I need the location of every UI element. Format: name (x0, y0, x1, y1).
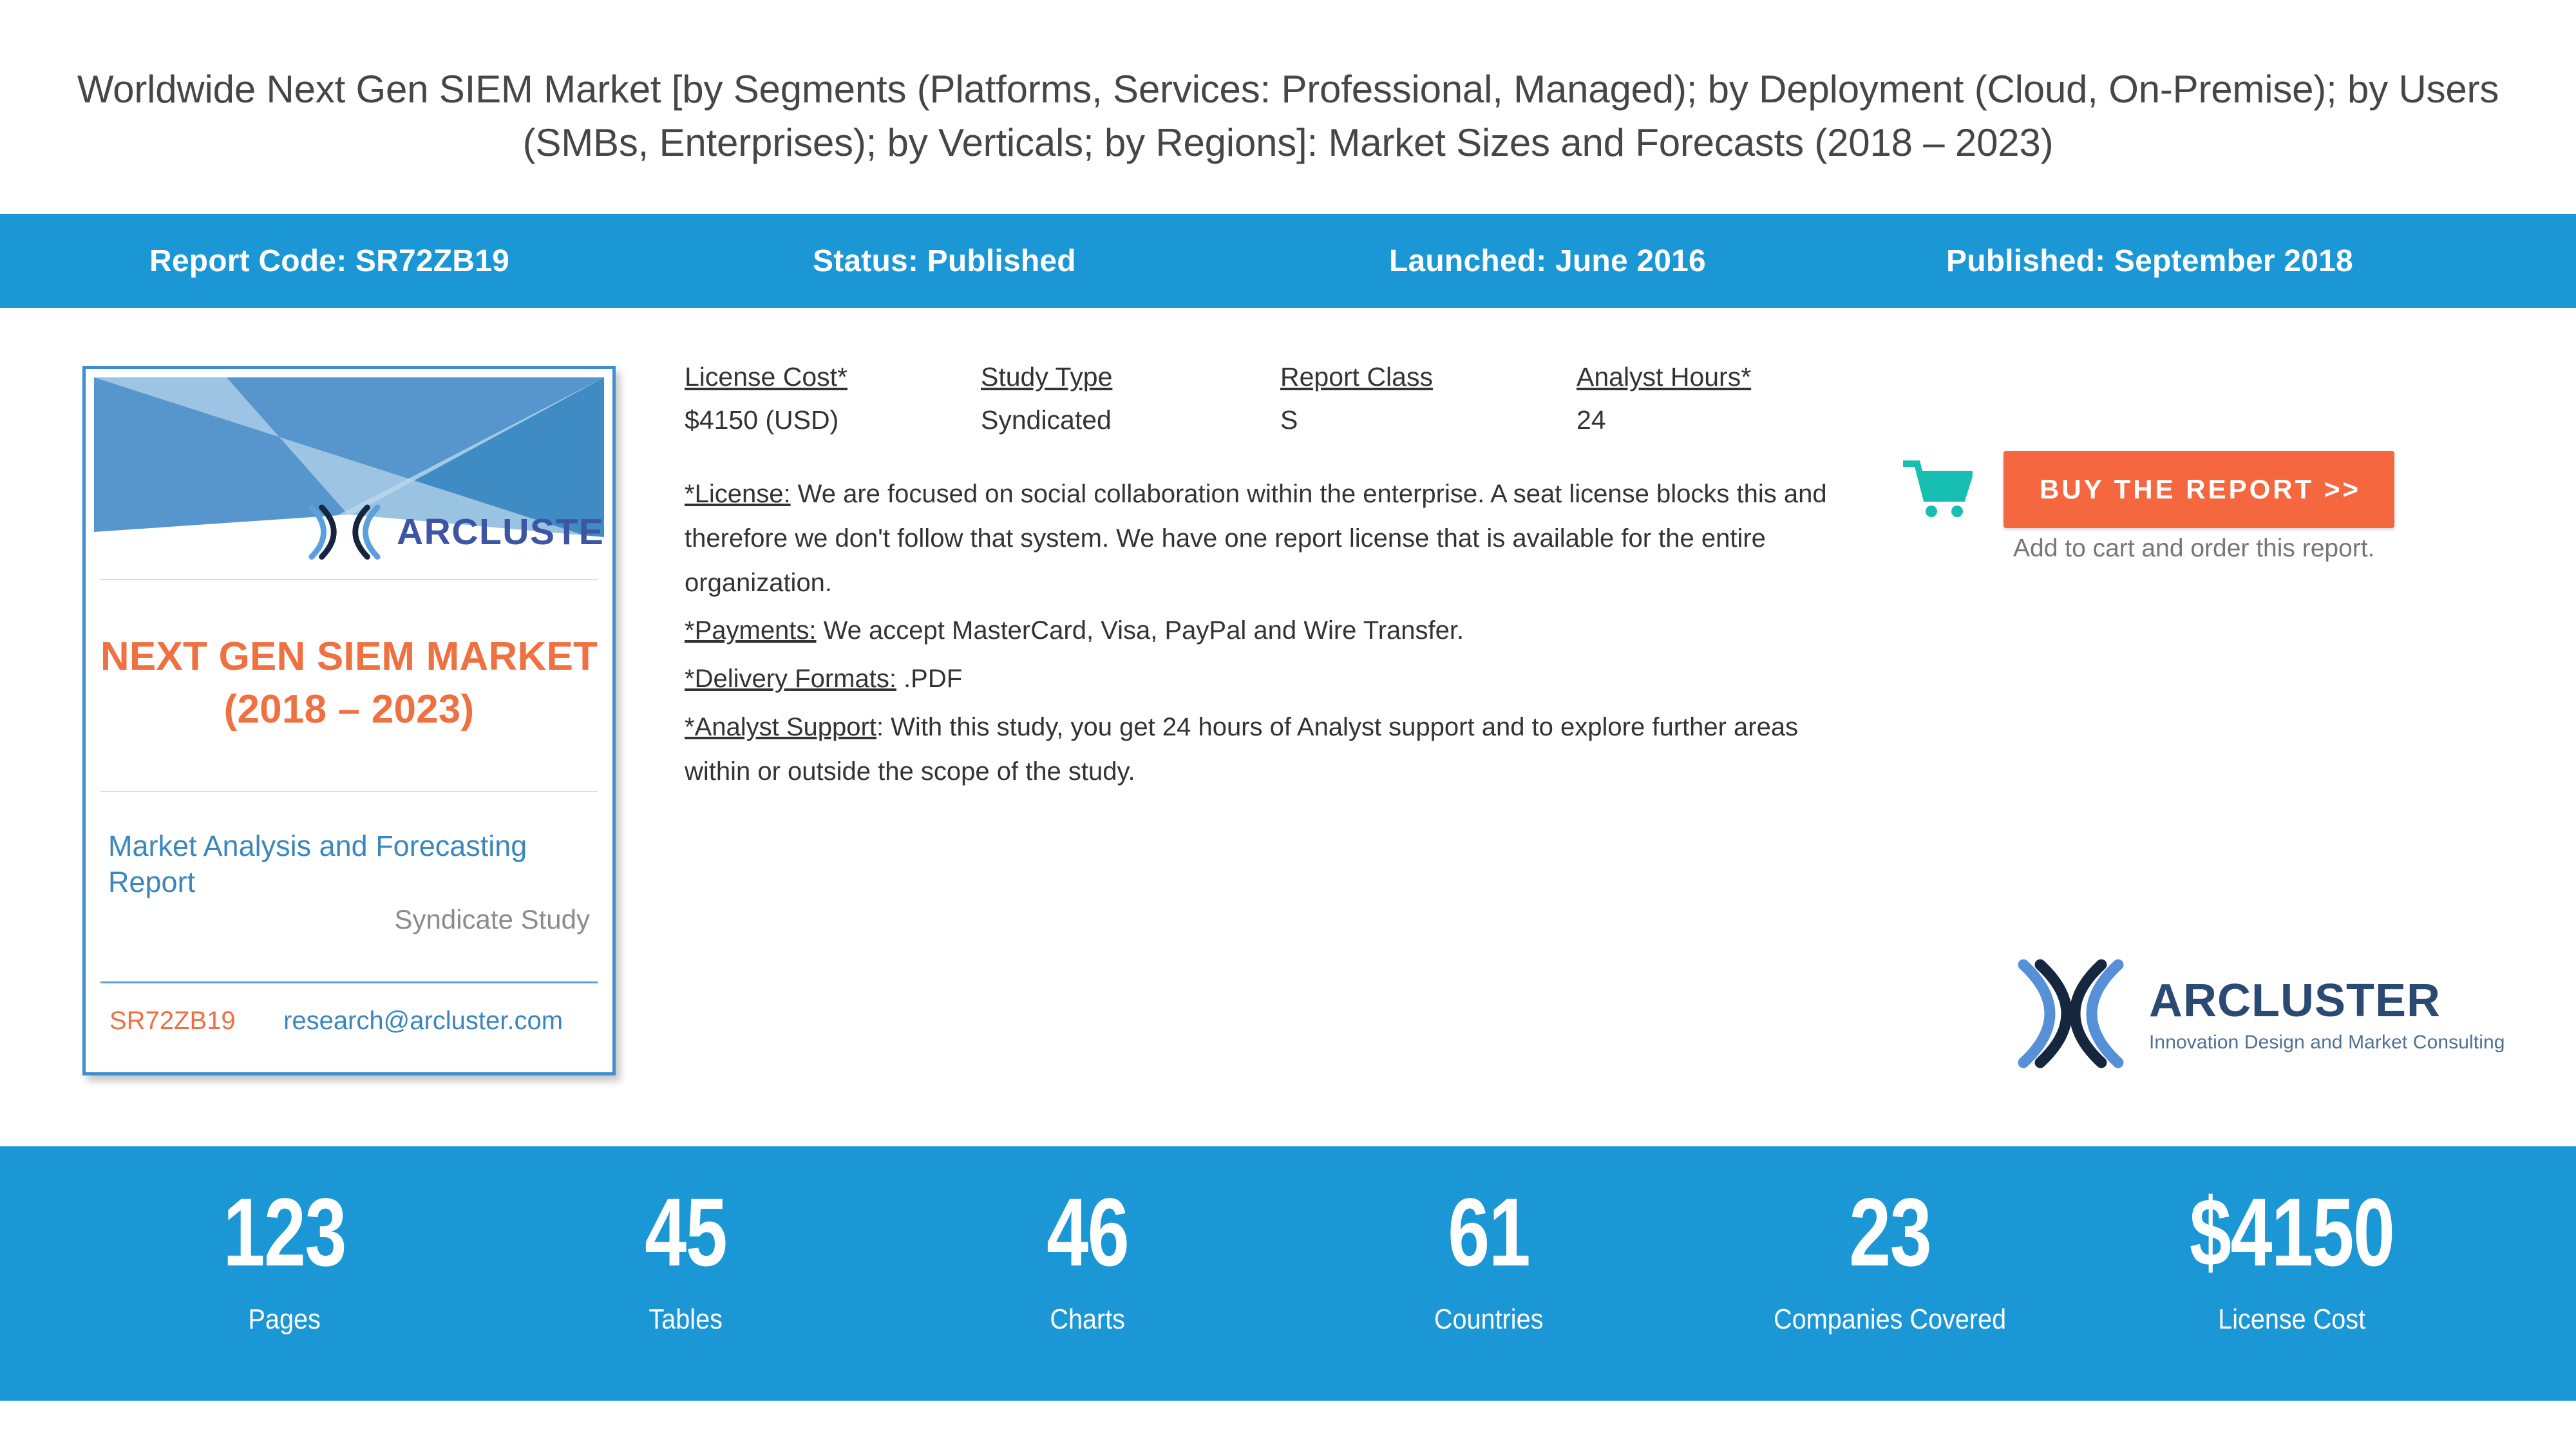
terms-analyst-label: *Analyst Support (685, 713, 876, 741)
report-stats-inner: 123 Pages 45 Tables 46 Charts 61 Countri… (0, 1146, 2576, 1336)
stat-companies-covered-label: Companies Covered (1709, 1303, 2070, 1336)
meta-label-license-cost: License Cost* (685, 362, 981, 392)
stat-charts-label: Charts (907, 1303, 1268, 1336)
cover-brand-lockup: ARCLUSTER (307, 504, 604, 560)
buy-the-report-button[interactable]: BUY THE REPORT >> (2003, 451, 2394, 528)
stat-tables-value: 45 (529, 1184, 842, 1280)
stat-companies-covered-value: 23 (1734, 1184, 2047, 1280)
buy-helper-text: Add to cart and order this report. (2013, 535, 2374, 563)
terms-delivery: *Delivery Formats: .PDF (685, 657, 1837, 701)
stat-countries-label: Countries (1308, 1303, 1669, 1336)
cover-report-title-years: (2018 – 2023) (224, 687, 475, 732)
arcluster-logo-text-wrap: ARCLUSTER Innovation Design and Market C… (2149, 974, 2505, 1054)
stat-charts-value: 46 (931, 1184, 1244, 1280)
stat-countries: 61 Countries (1288, 1146, 1689, 1336)
terms-license-text: We are focused on social collaboration w… (685, 480, 1827, 597)
arcluster-x-icon (307, 504, 383, 560)
cover-report-title-main: NEXT GEN SIEM MARKET (100, 634, 598, 679)
shopping-cart-icon[interactable] (1903, 459, 1973, 520)
meta-col-analyst-hours: Analyst Hours* 24 (1577, 362, 1847, 435)
terms-payments: *Payments: We accept MasterCard, Visa, P… (685, 609, 1837, 653)
report-cover-thumbnail[interactable]: ARCLUSTER NEXT GEN SIEM MARKET (2018 – 2… (82, 366, 616, 1075)
meta-value-report-class: S (1280, 405, 1577, 435)
meta-value-license-cost: $4150 (USD) (685, 405, 981, 435)
report-terms-block: *License: We are focused on social colla… (685, 472, 1837, 798)
meta-label-study-type: Study Type (981, 362, 1280, 392)
arcluster-logo-tagline: Innovation Design and Market Consulting (2149, 1032, 2505, 1054)
stat-tables: 45 Tables (485, 1146, 886, 1336)
cover-subtitle: Market Analysis and Forecasting Report (108, 828, 590, 900)
terms-license: *License: We are focused on social colla… (685, 472, 1837, 605)
report-stats-bar: 123 Pages 45 Tables 46 Charts 61 Countri… (0, 1146, 2576, 1401)
stat-charts: 46 Charts (887, 1146, 1288, 1336)
meta-col-license-cost: License Cost* $4150 (USD) (685, 362, 981, 435)
cover-logo-text: ARCLUSTER (397, 511, 604, 553)
terms-analyst: *Analyst Support: With this study, you g… (685, 705, 1837, 794)
report-meta-table: License Cost* $4150 (USD) Study Type Syn… (685, 362, 1847, 435)
terms-delivery-label: *Delivery Formats: (685, 665, 896, 693)
arcluster-x-svg (307, 504, 383, 561)
stat-license-cost-value: $4150 (2135, 1184, 2448, 1280)
meta-col-report-class: Report Class S (1280, 362, 1577, 435)
meta-label-report-class: Report Class (1280, 362, 1577, 392)
terms-payments-label: *Payments: (685, 616, 817, 645)
stat-tables-label: Tables (505, 1303, 866, 1336)
cover-report-title: NEXT GEN SIEM MARKET (2018 – 2023) (94, 580, 604, 791)
main-content: ARCLUSTER NEXT GEN SIEM MARKET (2018 – 2… (0, 308, 2576, 1146)
stat-license-cost-label: License Cost (2111, 1303, 2472, 1336)
page-title: Worldwide Next Gen SIEM Market [by Segme… (71, 0, 2505, 170)
meta-value-study-type: Syndicated (981, 405, 1280, 435)
cover-subtitle-block: Market Analysis and Forecasting Report S… (94, 792, 604, 948)
cover-study-type: Syndicate Study (108, 904, 590, 935)
arcluster-x-mark-svg (2014, 958, 2127, 1069)
report-info-bar: Report Code: SR72ZB19 Status: Published … (0, 214, 2576, 308)
meta-col-study-type: Study Type Syndicated (981, 362, 1280, 435)
stat-license-cost: $4150 License Cost (2091, 1146, 2492, 1336)
arcluster-logo-name: ARCLUSTER (2149, 975, 2441, 1027)
shopping-cart-svg (1903, 459, 1973, 520)
info-launched: Launched: June 2016 (1389, 243, 1946, 279)
terms-license-label: *License: (685, 480, 791, 508)
stat-pages-label: Pages (104, 1303, 465, 1336)
buy-row: BUY THE REPORT >> (1903, 451, 2394, 528)
terms-delivery-text: .PDF (896, 665, 962, 693)
stat-pages: 123 Pages (84, 1146, 485, 1336)
terms-payments-text: We accept MasterCard, Visa, PayPal and W… (817, 616, 1464, 645)
cover-footer: SR72ZB19 research@arcluster.com (94, 983, 604, 1036)
info-status: Status: Published (813, 243, 1389, 279)
arcluster-x-icon (2014, 958, 2127, 1069)
cover-email: research@arcluster.com (283, 1007, 563, 1036)
arcluster-corporate-logo: ARCLUSTER Innovation Design and Market C… (2014, 958, 2505, 1069)
stat-countries-value: 61 (1332, 1184, 1645, 1280)
cover-report-code: SR72ZB19 (109, 1007, 283, 1036)
info-report-code: Report Code: SR72ZB19 (149, 243, 813, 279)
report-cover-inner: ARCLUSTER NEXT GEN SIEM MARKET (2018 – 2… (94, 377, 604, 1064)
stat-pages-value: 123 (128, 1184, 441, 1280)
info-published: Published: September 2018 (1946, 243, 2526, 279)
stat-companies-covered: 23 Companies Covered (1689, 1146, 2090, 1336)
report-info-bar-inner: Report Code: SR72ZB19 Status: Published … (0, 243, 2576, 279)
meta-label-analyst-hours: Analyst Hours* (1577, 362, 1847, 392)
meta-value-analyst-hours: 24 (1577, 405, 1847, 435)
